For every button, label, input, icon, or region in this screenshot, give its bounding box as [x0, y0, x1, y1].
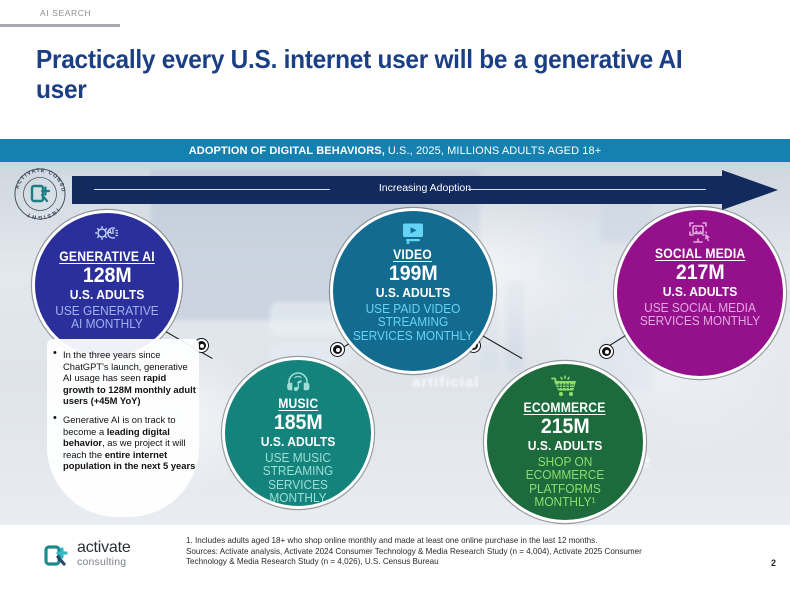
bg-ghost-word-artificial: artificial — [412, 374, 480, 391]
takeaway-bullet: In the three years since ChatGPT's launc… — [63, 349, 196, 407]
eyebrow-label: AI SEARCH — [40, 8, 91, 18]
eyebrow-rule — [0, 24, 120, 27]
shopping-cart-icon — [550, 373, 580, 399]
eyebrow: AI SEARCH — [0, 8, 200, 30]
bubble-value: 199M — [389, 263, 438, 285]
bubble-description: USE GENERATIVE AI MONTHLY — [39, 305, 176, 332]
bubble-generative-ai[interactable]: AI GENERATIVE AI 128M U.S. ADULTS USE GE… — [32, 210, 182, 360]
connector-dot-4 — [600, 345, 613, 358]
bubble-label: MUSIC — [278, 396, 318, 411]
bubble-music[interactable]: MUSIC 185M U.S. ADULTS USE MUSIC STREAMI… — [222, 357, 374, 509]
increasing-adoption-arrow: Increasing Adoption — [72, 170, 778, 210]
bubble-description: SHOP ON ECOMMERCE PLATFORMS MONTHLY¹ — [491, 456, 639, 510]
exhibit-title-rest: U.S., 2025, MILLIONS ADULTS AGED 18+ — [388, 145, 601, 157]
bubble-label: SOCIAL MEDIA — [655, 246, 745, 261]
takeaway-bullet: Generative AI is on track to become a le… — [63, 414, 196, 472]
bubble-label: GENERATIVE AI — [59, 249, 155, 264]
bubble-audience: U.S. ADULTS — [261, 435, 336, 449]
bubble-value: 215M — [541, 416, 590, 438]
logo-subtitle: consulting — [77, 557, 131, 568]
bubble-value: 185M — [274, 412, 323, 434]
exhibit: ADOPTION OF DIGITAL BEHAVIORS, U.S., 202… — [0, 139, 790, 525]
footnote-line-2: Sources: Activate analysis, Activate 202… — [186, 547, 746, 558]
bubble-description: USE PAID VIDEO STREAMING SERVICES MONTHL… — [337, 303, 489, 343]
bubble-audience: U.S. ADULTS — [70, 288, 145, 302]
social-image-cursor-icon — [686, 219, 714, 245]
activate-mark-icon — [44, 541, 70, 567]
activate-consumer-insight-stamp-icon: ACTIVATE CONSUMER INSIGHT — [11, 165, 69, 223]
footnote: 1. Includes adults aged 18+ who shop onl… — [186, 536, 746, 568]
exhibit-title-bar: ADOPTION OF DIGITAL BEHAVIORS, U.S., 202… — [0, 139, 790, 162]
bubble-label: VIDEO — [394, 247, 433, 262]
bubble-label: ECOMMERCE — [524, 400, 606, 415]
bubble-video[interactable]: VIDEO 199M U.S. ADULTS USE PAID VIDEO ST… — [330, 208, 496, 374]
bubble-social-media[interactable]: SOCIAL MEDIA 217M U.S. ADULTS USE SOCIAL… — [614, 207, 786, 379]
activate-consulting-logo: activate consulting — [44, 540, 131, 568]
bubble-value: 217M — [676, 262, 725, 284]
footnote-line-3: Technology & Media Research Study (n = 4… — [186, 557, 746, 568]
bubble-description: USE MUSIC STREAMING SERVICES MONTHLY — [229, 452, 368, 506]
slide-root: AI SEARCH Practically every U.S. interne… — [0, 0, 790, 593]
video-play-icon — [400, 220, 426, 246]
svg-text:ACTIVATE CONSUMER: ACTIVATE CONSUMER — [11, 165, 66, 193]
arrow-label: Increasing Adoption — [72, 182, 778, 194]
bubble-audience: U.S. ADULTS — [663, 285, 738, 299]
connector-dot-2 — [331, 343, 344, 356]
key-takeaways: In the three years since ChatGPT's launc… — [52, 349, 196, 479]
page-title: Practically every U.S. internet user wil… — [36, 44, 713, 104]
bubble-description: USE SOCIAL MEDIA SERVICES MONTHLY — [621, 302, 779, 329]
exhibit-title-bold: ADOPTION OF DIGITAL BEHAVIORS, — [189, 145, 385, 157]
page-number: 2 — [771, 558, 776, 568]
footnote-line-1: 1. Includes adults aged 18+ who shop onl… — [186, 536, 746, 547]
headphones-music-icon — [285, 369, 311, 395]
ai-gear-icon: AI — [94, 222, 120, 248]
bubble-ecommerce[interactable]: ECOMMERCE 215M U.S. ADULTS SHOP ON ECOMM… — [484, 361, 646, 523]
bubble-audience: U.S. ADULTS — [528, 439, 603, 453]
bubble-value: 128M — [83, 265, 132, 287]
logo-name: activate — [77, 540, 131, 556]
svg-text:INSIGHT: INSIGHT — [25, 207, 60, 220]
bubble-audience: U.S. ADULTS — [376, 286, 451, 300]
